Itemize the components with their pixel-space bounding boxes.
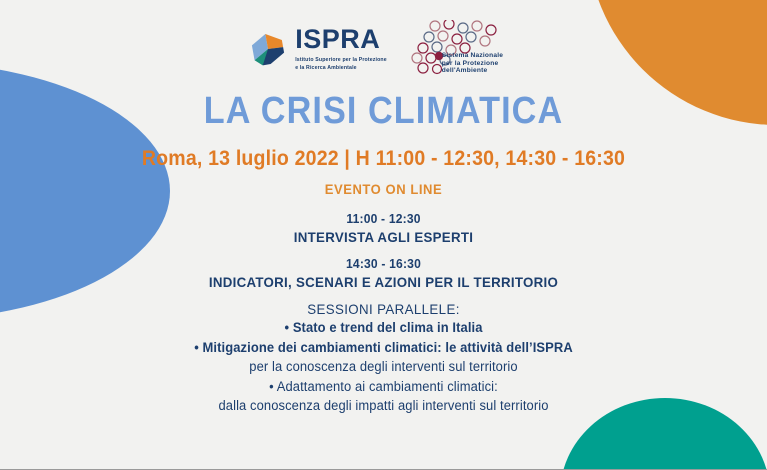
session-title: INTERVISTA AGLI ESPERTI [19,229,748,245]
ispra-wordblock: ISPRA Istituto Superiore per la Protezio… [295,26,387,72]
ispra-logo: ISPRA Istituto Superiore per la Protezio… [248,26,387,72]
snpa-line3: dell'Ambiente [442,67,503,75]
ispra-tagline: Istituto Superiore per la Protezione e l… [295,56,387,72]
event-mode-label: EVENTO ON LINE [27,181,740,197]
ispra-wordmark: ISPRA [295,26,387,53]
snpa-line1: Sistema Nazionale [442,52,503,60]
page-title: LA CRISI CLIMATICA [38,90,728,133]
sessions-list: 11:00 - 12:30 INTERVISTA AGLI ESPERTI 14… [0,211,767,290]
ispra-tagline-line1: Istituto Superiore per la Protezione [295,56,387,64]
list-item: per la conoscenza degli interventi sul t… [15,357,751,377]
list-item: • Mitigazione dei cambiamenti climatici:… [15,338,751,358]
session-block: 14:30 - 16:30 INDICATORI, SCENARI E AZIO… [0,256,767,290]
session-time: 11:00 - 12:30 [27,211,740,226]
logo-row: ISPRA Istituto Superiore per la Protezio… [0,0,767,78]
event-poster: ISPRA Istituto Superiore per la Protezio… [0,0,767,470]
parallel-sessions-heading: SESSIONI PARALLELE: [19,301,748,317]
snpa-line2: per la Protezione [442,60,503,68]
parallel-sessions-list: • Stato e trend del clima in Italia • Mi… [0,318,767,416]
snpa-logo: Sistema Nazionale per la Protezione dell… [409,20,519,78]
snpa-wordblock: Sistema Nazionale per la Protezione dell… [442,52,503,75]
event-date-line: Roma, 13 luglio 2022 | H 11:00 - 12:30, … [27,147,740,171]
session-block: 11:00 - 12:30 INTERVISTA AGLI ESPERTI [0,211,767,245]
poster-content: ISPRA Istituto Superiore per la Protezio… [0,0,767,469]
session-title: INDICATORI, SCENARI E AZIONI PER IL TERR… [19,274,748,290]
ispra-diamond-icon [248,29,288,69]
list-item: dalla conoscenza degli impatti agli inte… [15,396,751,416]
session-time: 14:30 - 16:30 [27,256,740,271]
list-item: • Adattamento ai cambiamenti climatici: [15,377,751,397]
list-item: • Stato e trend del clima in Italia [15,318,751,338]
ispra-tagline-line2: e la Ricerca Ambientale [295,64,387,72]
